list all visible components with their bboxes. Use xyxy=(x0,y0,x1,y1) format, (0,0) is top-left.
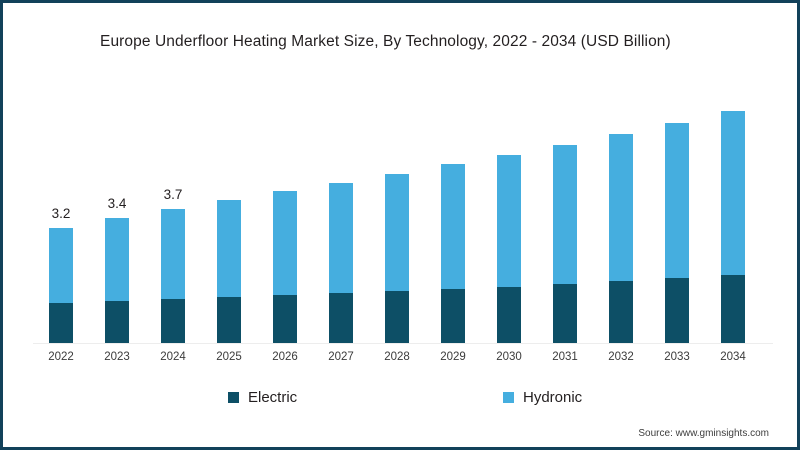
chart-inner-frame: Europe Underfloor Heating Market Size, B… xyxy=(3,3,797,447)
bar-value-label-2022: 3.2 xyxy=(31,206,91,221)
bar-2031[interactable] xyxy=(553,145,577,343)
x-tick-2031: 2031 xyxy=(535,351,595,363)
bar-segment-hydronic-2027[interactable] xyxy=(329,183,353,293)
bar-value-label-2023: 3.4 xyxy=(87,196,147,211)
x-tick-2032: 2032 xyxy=(591,351,651,363)
legend-item-hydronic[interactable]: Hydronic xyxy=(503,389,582,406)
bar-segment-hydronic-2024[interactable] xyxy=(161,209,185,299)
bar-segment-hydronic-2025[interactable] xyxy=(217,200,241,297)
bar-2028[interactable] xyxy=(385,174,409,343)
x-tick-2027: 2027 xyxy=(311,351,371,363)
x-tick-2030: 2030 xyxy=(479,351,539,363)
bar-segment-hydronic-2032[interactable] xyxy=(609,134,633,281)
x-tick-2023: 2023 xyxy=(87,351,147,363)
bar-segment-hydronic-2028[interactable] xyxy=(385,174,409,291)
bar-segment-electric-2023[interactable] xyxy=(105,301,129,343)
bar-segment-electric-2034[interactable] xyxy=(721,275,745,343)
legend-label-hydronic: Hydronic xyxy=(523,389,582,406)
bar-segment-hydronic-2030[interactable] xyxy=(497,155,521,287)
bar-segment-hydronic-2026[interactable] xyxy=(273,191,297,295)
bar-segment-hydronic-2029[interactable] xyxy=(441,164,465,289)
x-axis-line xyxy=(33,343,773,344)
x-tick-2033: 2033 xyxy=(647,351,707,363)
bar-segment-electric-2029[interactable] xyxy=(441,289,465,343)
x-tick-2025: 2025 xyxy=(199,351,259,363)
bar-2024[interactable] xyxy=(161,209,185,343)
bar-segment-electric-2024[interactable] xyxy=(161,299,185,343)
bar-segment-hydronic-2033[interactable] xyxy=(665,123,689,278)
bar-segment-electric-2030[interactable] xyxy=(497,287,521,343)
bar-segment-electric-2032[interactable] xyxy=(609,281,633,343)
bar-segment-electric-2026[interactable] xyxy=(273,295,297,343)
bar-segment-electric-2025[interactable] xyxy=(217,297,241,343)
bar-segment-hydronic-2034[interactable] xyxy=(721,111,745,275)
bar-segment-electric-2027[interactable] xyxy=(329,293,353,343)
bar-2025[interactable] xyxy=(217,200,241,343)
x-tick-2022: 2022 xyxy=(31,351,91,363)
bar-segment-electric-2033[interactable] xyxy=(665,278,689,343)
x-tick-2034: 2034 xyxy=(703,351,763,363)
x-tick-2028: 2028 xyxy=(367,351,427,363)
bar-segment-electric-2022[interactable] xyxy=(49,303,73,343)
legend-swatch-icon-electric xyxy=(228,392,239,403)
bar-2030[interactable] xyxy=(497,155,521,343)
bar-2022[interactable] xyxy=(49,228,73,343)
legend-item-electric[interactable]: Electric xyxy=(228,389,297,406)
x-tick-2029: 2029 xyxy=(423,351,483,363)
bar-2033[interactable] xyxy=(665,123,689,343)
bar-2032[interactable] xyxy=(609,134,633,343)
bar-2027[interactable] xyxy=(329,183,353,343)
bar-segment-hydronic-2023[interactable] xyxy=(105,218,129,301)
bar-segment-hydronic-2022[interactable] xyxy=(49,228,73,303)
chart-canvas: Europe Underfloor Heating Market Size, B… xyxy=(0,0,800,450)
bar-2034[interactable] xyxy=(721,111,745,343)
x-tick-2024: 2024 xyxy=(143,351,203,363)
bar-segment-electric-2031[interactable] xyxy=(553,284,577,343)
bar-2026[interactable] xyxy=(273,191,297,343)
x-tick-2026: 2026 xyxy=(255,351,315,363)
bar-2023[interactable] xyxy=(105,218,129,343)
bar-segment-electric-2028[interactable] xyxy=(385,291,409,343)
legend-swatch-icon-hydronic xyxy=(503,392,514,403)
bar-2029[interactable] xyxy=(441,164,465,343)
legend-label-electric: Electric xyxy=(248,389,297,406)
bar-segment-hydronic-2031[interactable] xyxy=(553,145,577,284)
plot-area: 3.23.43.7 xyxy=(3,3,797,343)
source-attribution: Source: www.gminsights.com xyxy=(638,428,769,439)
bar-value-label-2024: 3.7 xyxy=(143,187,203,202)
chart-legend: Electric Hydronic xyxy=(3,389,797,411)
